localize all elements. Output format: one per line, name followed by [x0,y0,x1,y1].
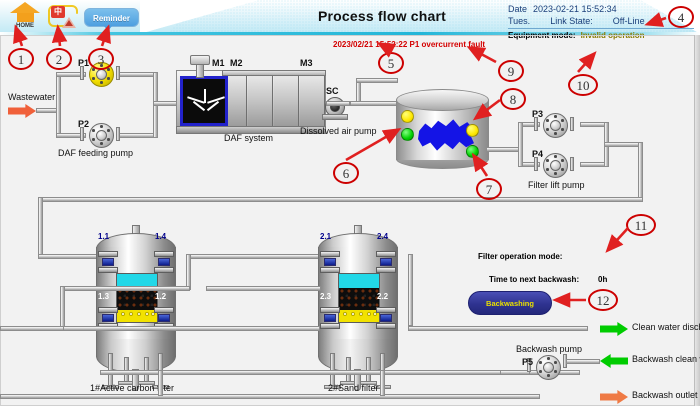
reminder-bubble-tail [104,26,112,31]
pipe-filter2-right-down [408,254,413,326]
daf-skimmer-rail [222,70,326,76]
info-divider [508,28,694,29]
pipe-lift-riser2 [518,122,523,167]
filter-lift-pump-label: Filter lift pump [528,180,585,190]
tank-level-indicator-high [401,110,414,123]
pump-p4-label: P4 [532,149,543,159]
backwash-outlet-label: Backwash outlet [632,390,698,400]
pipe-filter1-to-2-top [190,254,320,259]
pump-p3-hub [550,120,561,131]
callout-9: 9 [498,60,524,82]
filter2-valve-label-2.3: 2.3 [320,292,331,301]
pump-p4-hub [550,160,561,171]
pipe-tank-top-in [356,78,398,83]
filter1-valve-1.4[interactable] [154,251,174,273]
backwashing-button[interactable]: Backwashing [468,291,552,315]
motor-m2-label: M2 [230,58,243,68]
pump-p5-label: P5 [522,357,533,367]
filter2-valve-label-2.4: 2.4 [377,232,388,241]
filter2-name-label: 2#Sand filter [328,383,379,393]
filter-operation-mode-label: Filter operation mode: [478,252,562,261]
pipe-backwash-outlet [0,394,540,399]
pipe-filter2-mid [206,286,321,291]
filter-vessel-2[interactable] [310,229,406,389]
header-diagonal-left [140,0,260,34]
pump-p5[interactable] [533,352,563,382]
filter2-media-layer [339,288,379,310]
pipe-lower-header-1 [60,326,320,331]
pipe-p5-in [500,370,530,375]
pump-p4[interactable] [540,150,570,180]
filter2-water-layer [339,274,379,288]
pipe-daf-to-tank-a [326,101,350,106]
pipe-main-left-down [38,197,43,259]
tank-level-indicator-mid [466,124,479,137]
pipe-lower-left [0,326,64,331]
dissolved-air-pump-label: Dissolved air pump [300,126,377,136]
home-button-label: HOME [6,23,44,29]
language-switch-button[interactable]: 中 [48,5,78,31]
pump-p2-label: P2 [78,119,89,129]
pipe-inlet [36,108,58,113]
filter1-valve-label-1.1: 1.1 [98,232,109,241]
wastewater-label: Wastewater [8,92,55,102]
next-backwash-label: Time to next backwash: [489,275,579,284]
process-flow-screen: Process flow chart HOME 中 Reminder Date … [0,0,700,406]
filter1-valve-label-1.4: 1.4 [155,232,166,241]
right-scroll-strip[interactable] [694,35,700,406]
filter2-valve-label-2.1: 2.1 [320,232,331,241]
filter1-media-layer [117,288,157,310]
callout-6: 6 [333,162,359,184]
daf-cell-group [222,72,326,127]
sc-label: SC [326,86,339,96]
reminder-button[interactable]: Reminder [84,8,139,27]
callout-8: 8 [500,88,526,110]
filter1-valve-label-1.3: 1.3 [98,292,109,301]
pipe-main-down [638,142,643,200]
pipe-disch-to-main [604,142,642,147]
home-icon-body [17,13,34,22]
filter2-valve-2.1[interactable] [320,251,340,273]
filter2-media-window [338,273,380,323]
pipe-tank-side-in [350,101,400,106]
pipe-filter1-left-down [60,286,65,330]
pipe-clean-water-out [408,326,588,331]
link-state-value: Off-Line [613,16,645,26]
pipe-p1-out [118,72,158,77]
link-state-label: Link State: [550,16,593,26]
pump-p5-hub [543,362,554,373]
callout-2: 2 [46,48,72,70]
pipe-main-header [38,197,643,202]
pump-p3[interactable] [540,110,570,140]
callout-3: 3 [88,48,114,70]
daf-mixer-motor [190,55,210,65]
weekday-label: Tues. [508,16,530,26]
pipe-p2-out [118,133,158,138]
flange-p3-in [534,117,538,131]
flange-p3-out [570,117,574,131]
motor-m1-label: M1 [212,58,225,68]
tank-level-indicator-low [401,128,414,141]
callout-10: 10 [568,74,598,96]
pipe-filter1-right-down [186,254,191,290]
tank-level-indicator-bottom [466,145,479,158]
dissolved-air-pump-base [322,114,348,120]
callout-1: 1 [8,48,34,70]
dissolved-air-pump[interactable] [320,96,348,120]
filter-vessel-1[interactable] [88,229,184,389]
filter1-media-window [116,273,158,323]
home-button[interactable]: HOME [6,2,44,32]
filter2-valve-2.2[interactable] [376,307,396,329]
pump-p2-hub [96,130,107,141]
filter2-valve-2.3[interactable] [320,307,340,329]
date-value: 2023-02-21 15:52:34 [533,4,617,14]
callout-11: 11 [626,214,656,236]
date-label: Date [508,4,527,14]
page-title: Process flow chart [292,8,472,24]
pump-p2[interactable] [86,120,116,150]
backwash-clean-water-label: Backwash clean water [632,354,700,364]
pipe-f1-drain-down [158,370,163,396]
pipe-f2-drain-down [380,370,385,396]
flange-p1-in [80,66,84,80]
pipe-tank-out [486,147,522,152]
pipe-filter1-mid [60,286,190,291]
filter1-valve-1.1[interactable] [98,251,118,273]
clean-water-discharge-label: Clean water discharge [632,322,700,332]
flange-p4-in [534,157,538,171]
flange-p2-in [80,127,84,141]
pipe-feed-riser [56,72,61,138]
filter2-valve-2.4[interactable] [376,251,396,273]
next-backwash-value: 0h [598,275,607,284]
callout-4: 4 [668,6,694,28]
filter2-valve-label-2.2: 2.2 [377,292,388,301]
callout-5: 5 [378,52,404,74]
date-row: Date 2023-02-21 15:52:34 [508,4,694,14]
home-icon [10,2,40,13]
link-state-row: Tues. Link State: Off-Line [508,16,694,26]
flange-p4-out [570,157,574,171]
warning-triangle-icon [62,17,76,28]
flange-p1-out [116,66,120,80]
filter1-valve-label-1.2: 1.2 [155,292,166,301]
motor-m3-label: M3 [300,58,313,68]
callout-12: 12 [588,289,618,311]
flange-p2-out [116,127,120,141]
daf-feeding-pump-label: DAF feeding pump [58,148,133,158]
pump-p3-label: P3 [532,109,543,119]
daf-mixer-chamber [180,76,228,126]
callout-7: 7 [476,178,502,200]
pump-p1-hub [96,69,107,80]
pipe-p5-out [566,359,600,364]
daf-system-label: DAF system [224,133,273,143]
tank-top [396,89,489,111]
